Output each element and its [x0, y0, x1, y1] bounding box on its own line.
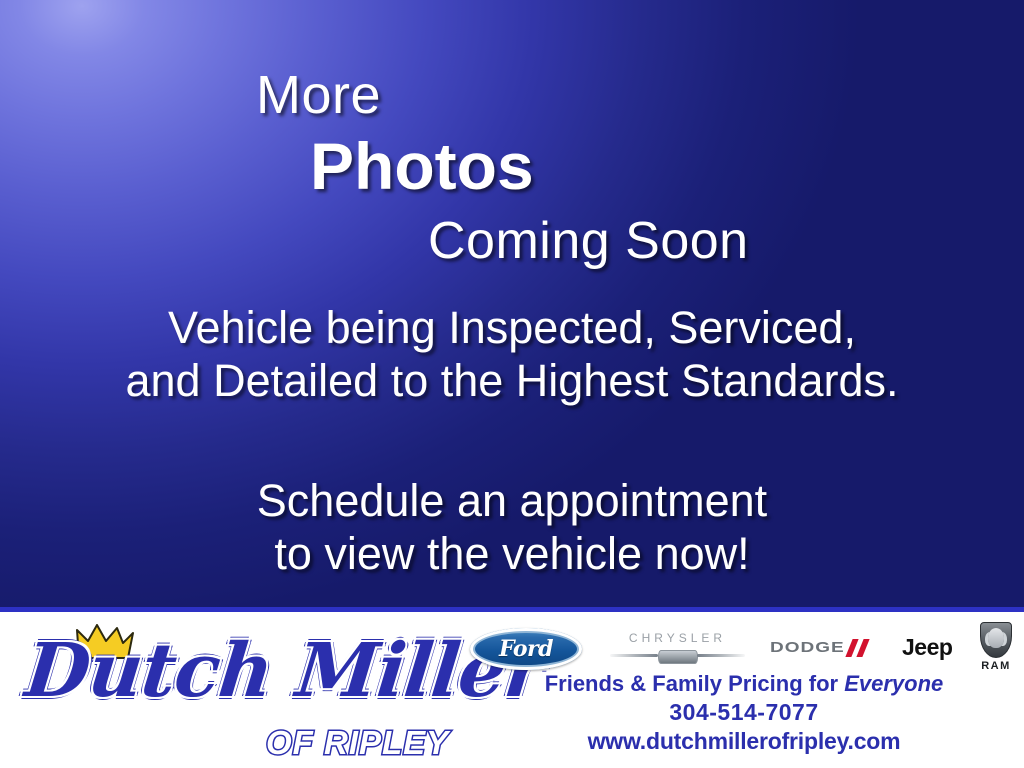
footer-bar: Dutch Miller OF RIPLEY Ford CHRYSLER DOD…: [0, 612, 1024, 768]
ford-wordmark: Ford: [499, 636, 553, 662]
chrysler-wordmark: CHRYSLER: [610, 632, 745, 644]
footer-phone[interactable]: 304-514-7077: [470, 698, 1018, 728]
appointment-message-line-2: to view the vehicle now!: [0, 531, 1024, 576]
headline-photos: Photos: [310, 133, 534, 199]
ram-shield-icon: [980, 622, 1012, 658]
ram-logo[interactable]: RAM: [975, 622, 1017, 672]
hero-content: More Photos Coming Soon Vehicle being In…: [0, 0, 1024, 607]
footer-tagline-emphasis: Everyone: [844, 671, 943, 696]
ford-logo[interactable]: Ford: [470, 628, 582, 670]
service-message: Vehicle being Inspected, Serviced, and D…: [0, 305, 1024, 411]
footer-tagline-prefix: Friends & Family Pricing for: [545, 671, 845, 696]
footer-contact-block: Friends & Family Pricing for Everyone 30…: [470, 670, 1018, 757]
dodge-stripes-icon: [847, 639, 873, 657]
dealer-location-label: OF RIPLEY: [266, 724, 449, 762]
jeep-wordmark: Jeep: [902, 634, 952, 660]
placeholder-photo-card: More Photos Coming Soon Vehicle being In…: [0, 0, 1024, 768]
footer-tagline: Friends & Family Pricing for Everyone: [470, 670, 1018, 698]
chrysler-badge-icon: [658, 650, 698, 664]
ram-head-icon: [988, 628, 1004, 648]
chrysler-wings-icon: [610, 649, 745, 662]
service-message-line-1: Vehicle being Inspected, Serviced,: [0, 305, 1024, 350]
headline-coming-soon: Coming Soon: [428, 215, 749, 267]
service-message-line-2: and Detailed to the Highest Standards.: [0, 358, 1024, 403]
dealer-logo[interactable]: Dutch Miller OF RIPLEY: [18, 614, 458, 766]
brand-logo-strip: Ford CHRYSLER DODGE Jeep: [470, 622, 1015, 674]
dodge-wordmark: DODGE: [770, 639, 845, 656]
hero-banner: More Photos Coming Soon Vehicle being In…: [0, 0, 1024, 607]
jeep-logo[interactable]: Jeep: [902, 634, 952, 661]
appointment-message-line-1: Schedule an appointment: [0, 478, 1024, 523]
footer-website[interactable]: www.dutchmillerofripley.com: [470, 727, 1018, 757]
headline-more: More: [256, 68, 381, 122]
chrysler-logo[interactable]: CHRYSLER: [610, 632, 745, 666]
appointment-message: Schedule an appointment to view the vehi…: [0, 478, 1024, 584]
dodge-logo[interactable]: DODGE: [770, 635, 885, 661]
dealer-name-script: Dutch Miller: [22, 634, 460, 708]
